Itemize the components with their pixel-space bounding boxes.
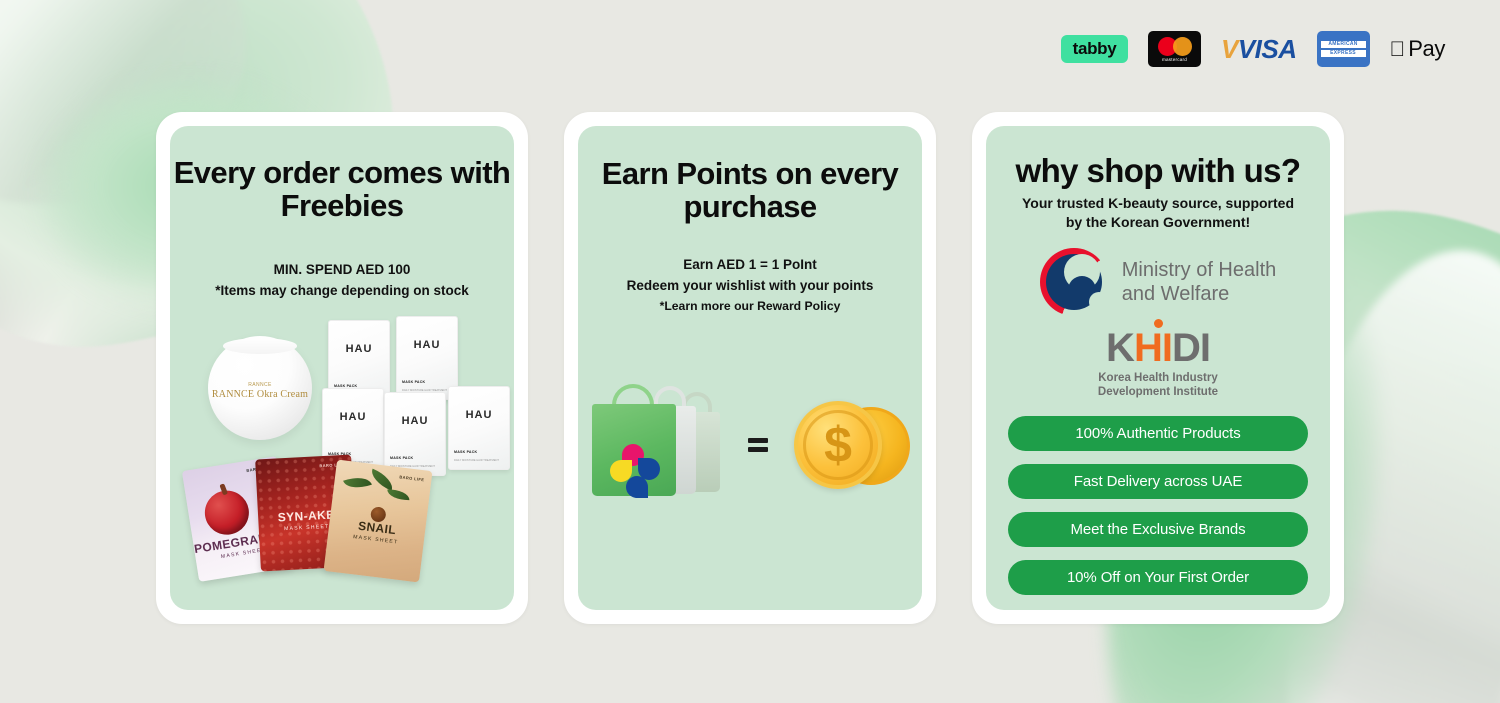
- pill-first-order-discount[interactable]: 10% Off on Your First Order: [1008, 560, 1308, 595]
- amex-logo: AMERICAN EXPRESS: [1317, 31, 1370, 67]
- card-points-inner: Earn Points on every purchase Earn AED 1…: [578, 126, 922, 610]
- why-shop-sub-line-2: by the Korean Government!: [986, 213, 1330, 232]
- freebies-product-artwork: RANNCE RANNCE Okra Cream HAU MASK PACKDA…: [170, 312, 514, 567]
- sachet-logo-5: HAU: [449, 409, 509, 421]
- card-why-shop-subtitle: Your trusted K-beauty source, supported …: [986, 188, 1330, 232]
- khidi-subtitle: Korea Health Industry Development Instit…: [986, 371, 1330, 400]
- mask-brand-snail: BARO LIFE: [399, 474, 425, 482]
- card-freebies-inner: Every order comes with Freebies MIN. SPE…: [170, 126, 514, 610]
- ministry-of-health-logo-row: Ministry of Health and Welfare: [986, 248, 1330, 316]
- coin-front: $: [794, 401, 882, 489]
- khidi-part-1: K: [1106, 326, 1134, 370]
- sachet-5: HAU MASK PACKDAILY MOISTURE HAIR TREATME…: [448, 386, 510, 470]
- gold-coins-icon: $: [794, 393, 910, 497]
- freebies-disclaimer: *Items may change depending on stock: [170, 281, 514, 302]
- jar-brand-text: RANNCE: [208, 382, 312, 388]
- shopping-bags-icon: [590, 386, 722, 504]
- mask-sheet-snail: BARO LIFE SNAIL MASK SHEET: [324, 460, 433, 583]
- khidi-part-3: DI: [1172, 326, 1210, 370]
- freebies-min-spend: MIN. SPEND AED 100: [170, 260, 514, 281]
- points-rate-line: Earn AED 1 = 1 PoInt: [578, 255, 922, 276]
- product-mask-sheets: BARO LIFE POMEGRANATE MASK SHEET BARO LI…: [182, 453, 442, 573]
- benefit-pills-list: 100% Authentic Products Fast Delivery ac…: [986, 416, 1330, 595]
- khidi-sub-line-1: Korea Health Industry: [986, 371, 1330, 385]
- khidi-sub-line-2: Development Institute: [986, 385, 1330, 399]
- apple-icon: : [1390, 39, 1406, 60]
- sachet-foot-title-5: MASK PACK: [454, 450, 477, 454]
- mask-title-snail: SNAIL MASK SHEET: [328, 515, 426, 549]
- pomegranate-icon: [202, 488, 252, 538]
- tabby-logo: tabby: [1061, 35, 1128, 63]
- mastercard-wordmark: mastercard: [1162, 57, 1187, 62]
- khidi-logo: KHIDI Korea Health Industry Development …: [986, 328, 1330, 400]
- product-okra-cream-jar: RANNCE RANNCE Okra Cream: [208, 336, 312, 440]
- sachet-logo-4: HAU: [385, 415, 445, 427]
- amex-line-1: AMERICAN: [1321, 41, 1366, 48]
- leaf-icon-3: [387, 489, 409, 500]
- why-shop-sub-line-1: Your trusted K-beauty source, supported: [986, 194, 1330, 213]
- payment-badge-visa[interactable]: VVISA: [1221, 34, 1297, 65]
- mastercard-logo: mastercard: [1148, 31, 1201, 67]
- khidi-part-2: HI: [1134, 326, 1172, 370]
- card-freebies-subtitle: MIN. SPEND AED 100 *Items may change dep…: [170, 222, 514, 302]
- ministry-name: Ministry of Health and Welfare: [1122, 258, 1277, 306]
- payment-badge-mastercard[interactable]: mastercard: [1148, 31, 1201, 67]
- pill-authentic-products[interactable]: 100% Authentic Products: [1008, 416, 1308, 451]
- pill-exclusive-brands[interactable]: Meet the Exclusive Brands: [1008, 512, 1308, 547]
- card-why-shop: why shop with us? Your trusted K-beauty …: [972, 112, 1344, 624]
- card-freebies: Every order comes with Freebies MIN. SPE…: [156, 112, 528, 624]
- apple-pay-logo:  Pay: [1390, 36, 1445, 62]
- bag-front: [592, 404, 676, 496]
- jar-product-name: RANNCE Okra Cream: [208, 389, 312, 400]
- ministry-line-2: and Welfare: [1122, 282, 1277, 306]
- pill-fast-delivery[interactable]: Fast Delivery across UAE: [1008, 464, 1308, 499]
- points-artwork: $: [578, 340, 922, 550]
- sachet-foot-title-2: MASK PACK: [402, 380, 425, 384]
- points-redeem-line: Redeem your wishlist with your points: [578, 276, 922, 297]
- pinwheel-icon: [608, 444, 664, 500]
- leaf-icon-2: [368, 469, 397, 491]
- taegeuk-icon: [1040, 248, 1108, 316]
- ministry-line-1: Ministry of Health: [1122, 258, 1277, 282]
- visa-logo: VVISA: [1221, 34, 1297, 65]
- card-freebies-title: Every order comes with Freebies: [170, 126, 514, 222]
- amex-line-2: EXPRESS: [1321, 50, 1366, 57]
- points-policy-link[interactable]: *Learn more our Reward Policy: [578, 297, 922, 316]
- card-points: Earn Points on every purchase Earn AED 1…: [564, 112, 936, 624]
- payment-methods-row: tabby mastercard VVISA AMERICAN EXPRESS …: [1061, 31, 1445, 67]
- card-why-shop-title: why shop with us?: [986, 126, 1330, 188]
- mastercard-circles-icon: [1158, 37, 1192, 56]
- card-points-title: Earn Points on every purchase: [578, 126, 922, 223]
- dollar-symbol: $: [824, 420, 852, 470]
- equals-sign-icon: [748, 438, 768, 452]
- payment-badge-tabby[interactable]: tabby: [1061, 35, 1128, 63]
- payment-badge-amex[interactable]: AMERICAN EXPRESS: [1317, 31, 1370, 67]
- card-points-subtitle: Earn AED 1 = 1 PoInt Redeem your wishlis…: [578, 223, 922, 316]
- sachet-logo-3: HAU: [323, 411, 383, 423]
- card-why-shop-inner: why shop with us? Your trusted K-beauty …: [986, 126, 1330, 610]
- payment-badge-apple-pay[interactable]:  Pay: [1390, 36, 1445, 62]
- apple-pay-wordmark: Pay: [1408, 36, 1445, 62]
- leaf-icon-1: [343, 472, 372, 493]
- sachet-foot-sub-5: DAILY MOISTURE HAIR TREATMENT: [454, 459, 504, 462]
- khidi-wordmark: KHIDI: [1106, 328, 1210, 368]
- sachet-foot-2: MASK PACKDAILY MOISTURE HAIR TREATMENT: [402, 370, 452, 392]
- sachet-foot-5: MASK PACKDAILY MOISTURE HAIR TREATMENT: [454, 440, 504, 462]
- visa-wordmark: VISA: [1238, 34, 1297, 64]
- benefit-cards-row: Every order comes with Freebies MIN. SPE…: [0, 112, 1500, 624]
- sachet-logo-2: HAU: [397, 339, 457, 351]
- sachet-logo-1: HAU: [329, 343, 389, 355]
